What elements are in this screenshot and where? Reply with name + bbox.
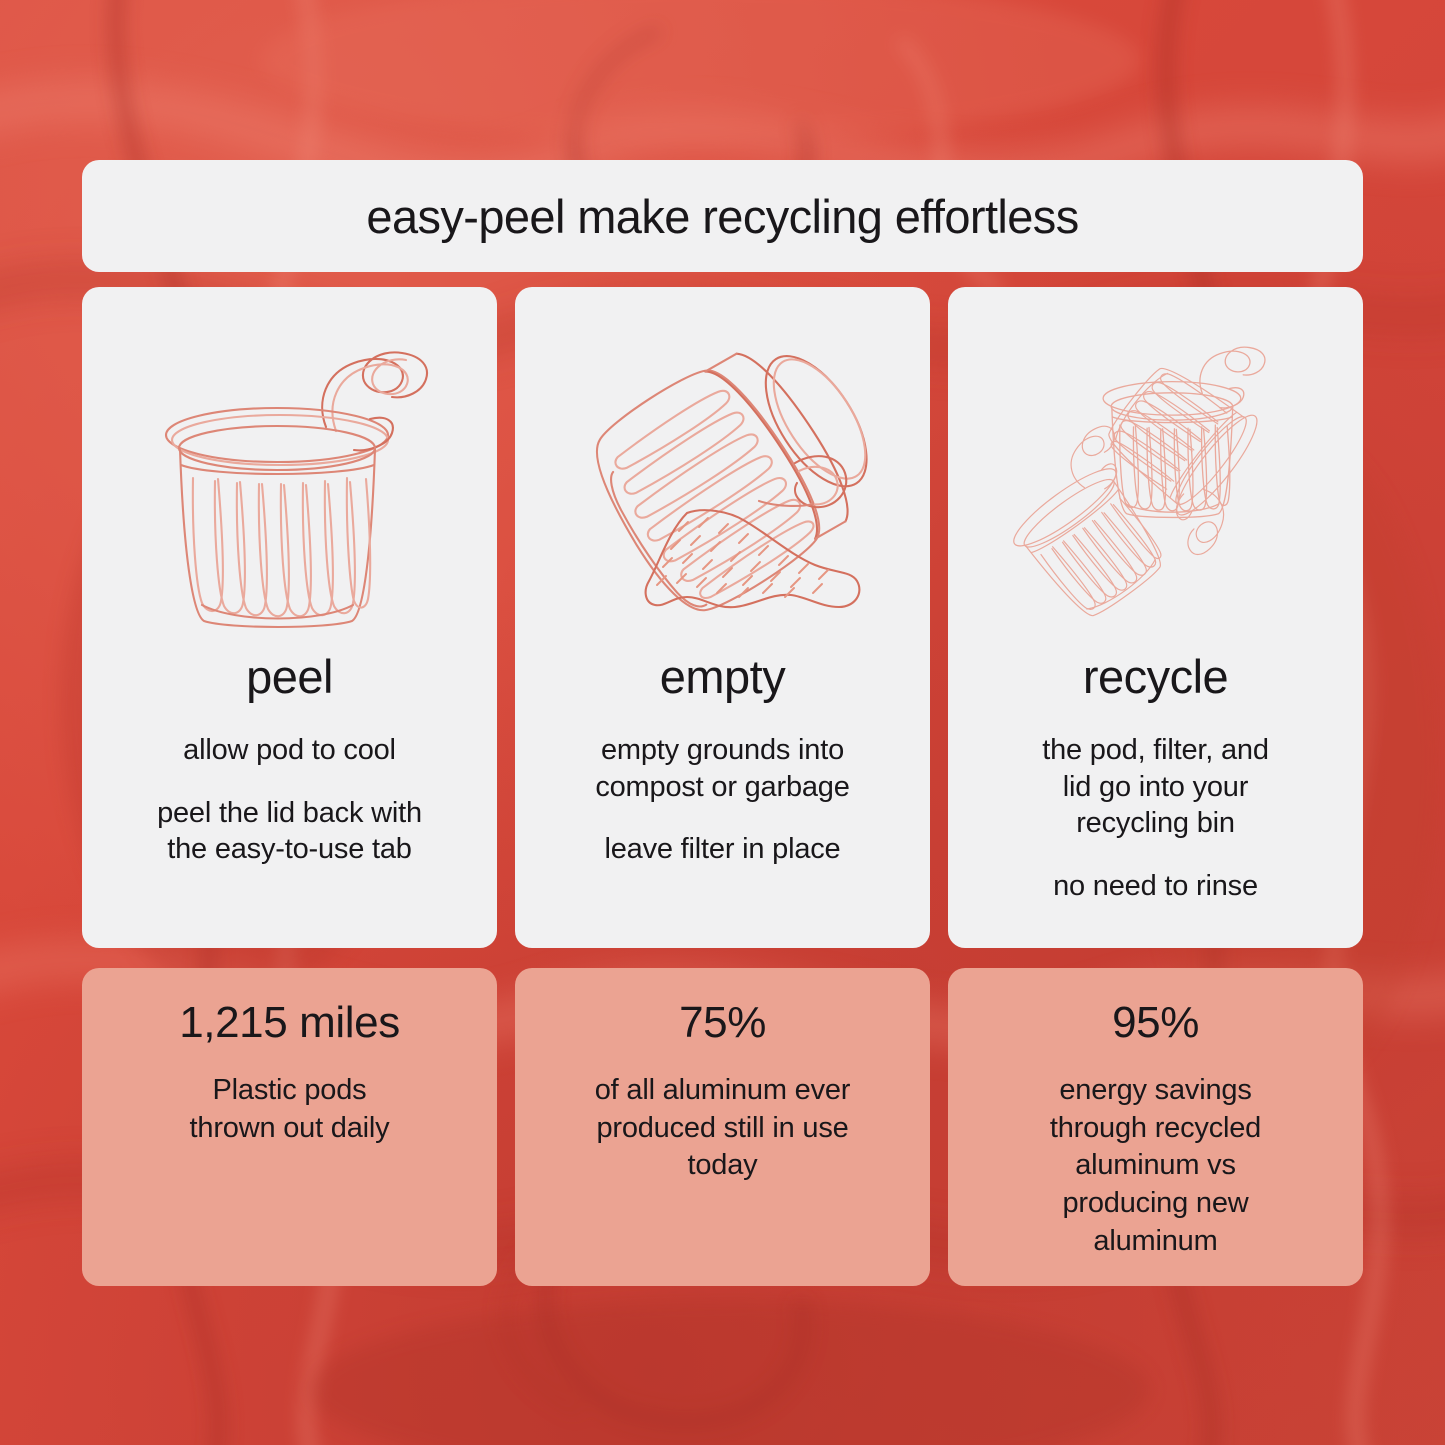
header-banner: easy-peel make recycling effortless [82, 160, 1363, 272]
step-lines-recycle: the pod, filter, and lid go into your re… [966, 732, 1345, 904]
step-line: the pod, filter, and lid go into your re… [1042, 732, 1269, 842]
step-line: no need to rinse [1053, 868, 1258, 905]
stat-label: Plastic pods thrown out daily [190, 1072, 390, 1147]
steps-row: peel allow pod to cool peel the lid back… [82, 287, 1363, 948]
stat-value: 1,215 miles [179, 998, 400, 1048]
stat-value: 95% [1112, 998, 1199, 1048]
step-lines-peel: allow pod to cool peel the lid back with… [100, 732, 479, 868]
infographic-root: easy-peel make recycling effortless [82, 160, 1363, 1286]
step-card-recycle: recycle the pod, filter, and lid go into… [948, 287, 1363, 948]
stat-label: energy savings through recycled aluminum… [1050, 1072, 1261, 1260]
step-card-empty: empty empty grounds into compost or garb… [515, 287, 930, 948]
step-title-peel: peel [246, 649, 333, 704]
step-line: empty grounds into compost or garbage [595, 732, 849, 805]
coffee-pod-emptying-grounds-icon [533, 305, 912, 635]
step-line: peel the lid back with the easy-to-use t… [157, 795, 422, 868]
stat-value: 75% [679, 998, 766, 1048]
stat-card-energy-savings: 95% energy savings through recycled alum… [948, 968, 1363, 1286]
step-title-empty: empty [660, 649, 786, 704]
three-coffee-pods-recycle-icon [966, 305, 1345, 635]
page-title: easy-peel make recycling effortless [366, 189, 1078, 244]
step-card-peel: peel allow pod to cool peel the lid back… [82, 287, 497, 948]
stats-row: 1,215 miles Plastic pods thrown out dail… [82, 968, 1363, 1286]
coffee-pod-peeling-lid-icon [100, 305, 479, 635]
stat-card-aluminum-in-use: 75% of all aluminum ever produced still … [515, 968, 930, 1286]
step-title-recycle: recycle [1083, 649, 1228, 704]
step-line: leave filter in place [605, 831, 841, 868]
step-line: allow pod to cool [183, 732, 396, 769]
stat-label: of all aluminum ever produced still in u… [595, 1072, 851, 1185]
step-lines-empty: empty grounds into compost or garbage le… [533, 732, 912, 868]
stat-card-plastic-pods: 1,215 miles Plastic pods thrown out dail… [82, 968, 497, 1286]
